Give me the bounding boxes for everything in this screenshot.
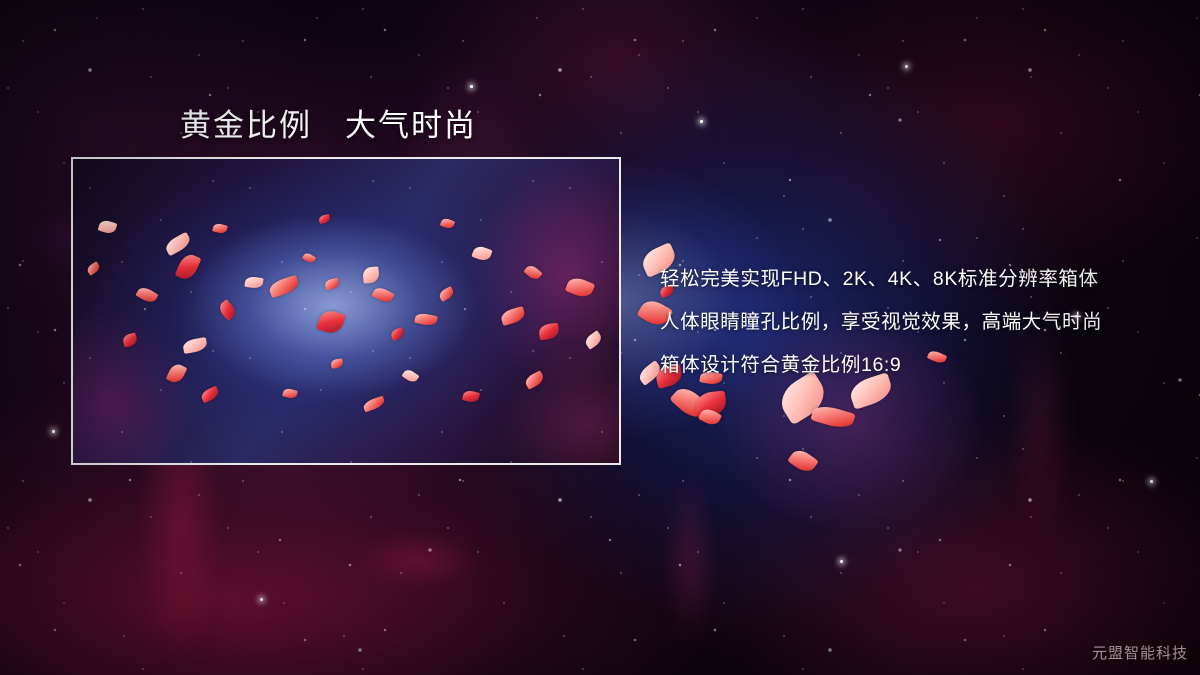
bright-star [470, 85, 473, 88]
bright-star [1150, 480, 1153, 483]
watermark: 元盟智能科技 [1092, 642, 1188, 663]
bright-star [52, 430, 55, 433]
bright-star [700, 120, 703, 123]
page-title: 黄金比例 大气时尚 [180, 100, 477, 145]
slide-canvas: 黄金比例 大气时尚 [0, 0, 1200, 675]
body-line-1: 轻松完美实现FHD、2K、4K、8K标准分辨率箱体 [660, 258, 1160, 301]
framed-product-image [71, 157, 621, 465]
bright-star [905, 65, 908, 68]
bright-star [260, 598, 263, 601]
bright-star [840, 560, 843, 563]
body-text-block: 轻松完美实现FHD、2K、4K、8K标准分辨率箱体 人体眼睛瞳孔比例，享受视觉效… [660, 258, 1160, 387]
body-line-3: 箱体设计符合黄金比例16:9 [660, 344, 1160, 387]
inset-photo [73, 159, 619, 463]
body-line-2: 人体眼睛瞳孔比例，享受视觉效果，高端大气时尚 [660, 301, 1160, 344]
inset-starfield [73, 159, 619, 463]
